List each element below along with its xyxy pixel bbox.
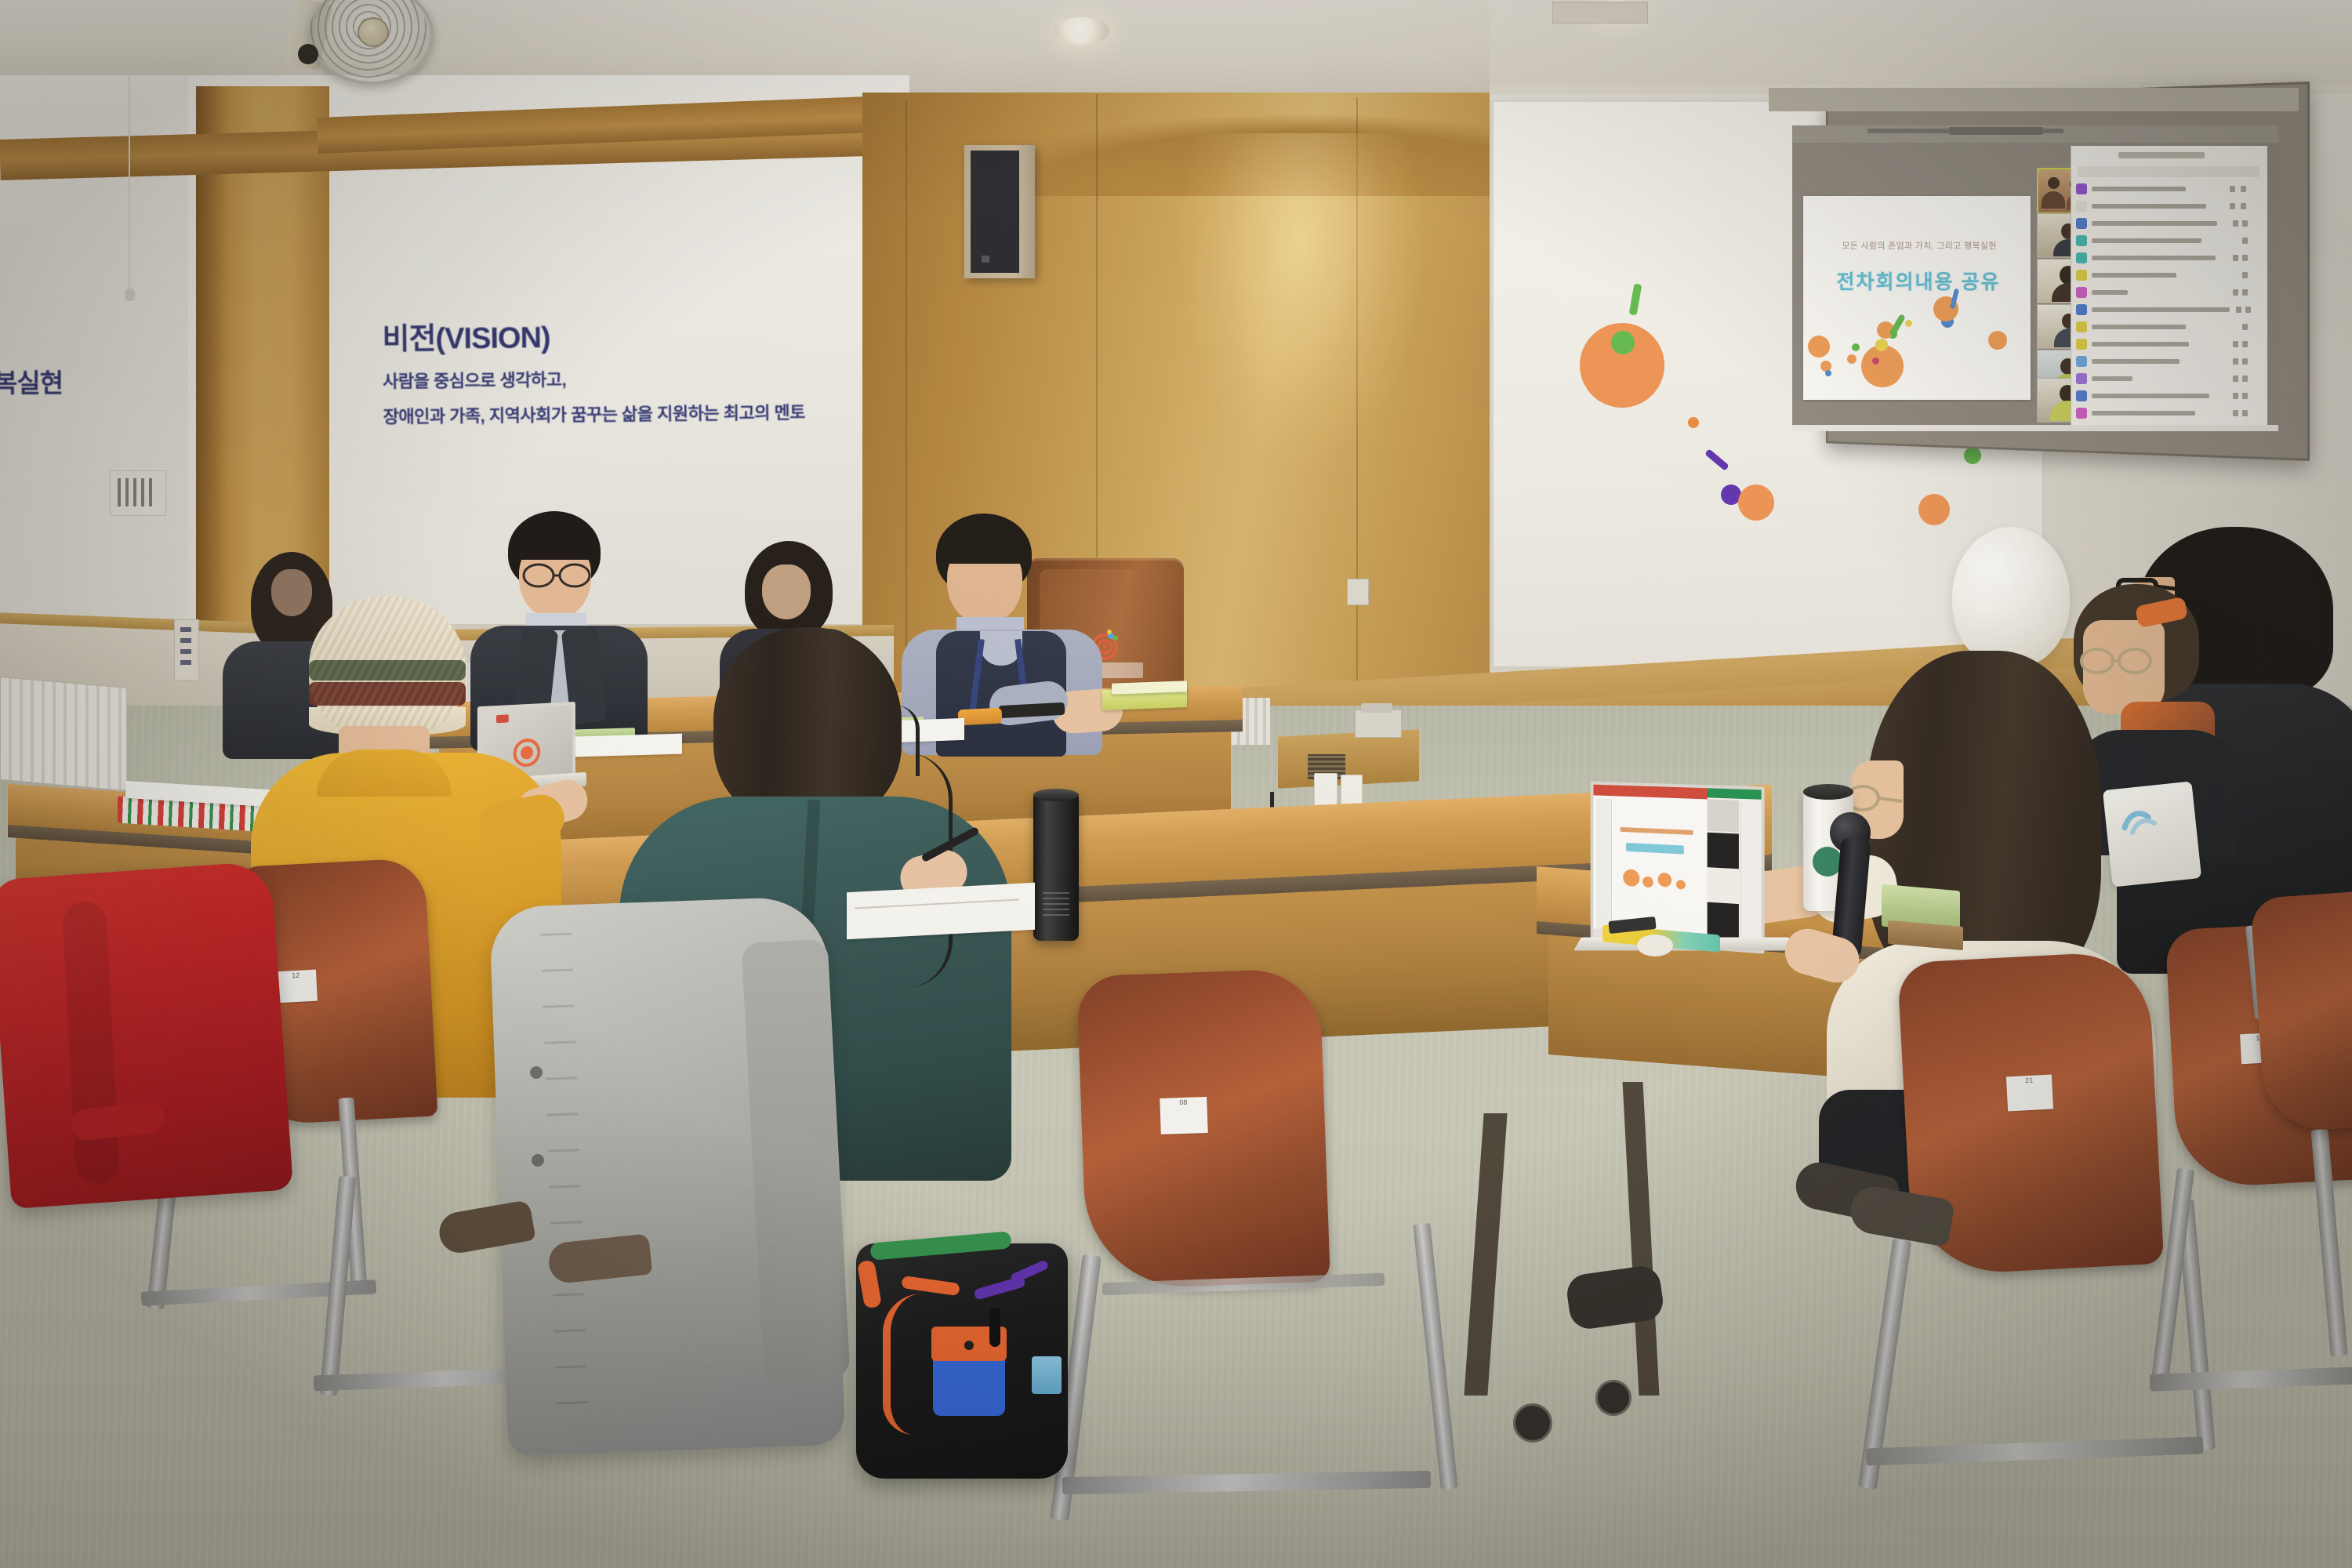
door-plate-text [180, 627, 191, 668]
slide-dot-blue [1825, 370, 1831, 376]
video-call-toolbar[interactable] [1792, 425, 2278, 431]
banner-dot-small [1688, 417, 1699, 428]
participant-list-panel[interactable] [2071, 146, 2267, 425]
slide-dot [1623, 869, 1639, 887]
jacket-snap-button [530, 1066, 543, 1079]
vision-line-1: 사람을 중심으로 생각하고, [383, 363, 884, 394]
backpack-zipper-orange[interactable] [883, 1294, 936, 1435]
participant-panel-thumb [1740, 802, 1761, 941]
slide-dot [1988, 331, 2007, 350]
wall-fan [290, 0, 439, 86]
eyeglasses-icon [519, 563, 594, 590]
radiator-left [0, 677, 127, 791]
wall-socket[interactable] [1347, 579, 1369, 605]
fan-pull-cord-bead[interactable] [125, 289, 135, 301]
slide-dot-large [1861, 345, 1904, 387]
jacket-snap-button [532, 1154, 544, 1167]
vision-heading: 비전(VISION) [382, 310, 884, 358]
video-tile-thumb [1708, 869, 1739, 902]
thermos-lid[interactable] [1033, 789, 1079, 801]
video-call-status-bar [1708, 788, 1762, 799]
projected-video-call-window: 모든 사람의 존엄과 가치, 그리고 행복실현 전차회의내용 공유 [1792, 125, 2278, 431]
slide-dot [1808, 336, 1830, 358]
participant-row[interactable] [2076, 216, 2263, 231]
participant-row[interactable] [2076, 406, 2263, 421]
backpack-strap [989, 1308, 1000, 1347]
slide-dot [1642, 877, 1653, 888]
chair-number-tag: 08 [1160, 1097, 1208, 1134]
participant-row[interactable] [2076, 199, 2263, 214]
participant-row[interactable] [2076, 354, 2263, 369]
projected-window-title-badge [1949, 127, 2043, 135]
participant-row[interactable] [2076, 234, 2263, 249]
slide-subtitle: 모든 사람의 존엄과 가치, 그리고 행복실현 [1822, 239, 2016, 252]
banner-stick-green [1629, 283, 1642, 315]
thermos-label [1043, 892, 1069, 917]
hair-fringe [517, 538, 593, 560]
notepad-open[interactable] [847, 883, 1035, 940]
conference-room-photo: 복실현 비전(VISION) 사람을 중심으로 생각하고, 장애인과 가족, 지… [0, 0, 2352, 1568]
hair-fringe [946, 539, 1025, 564]
participant-row[interactable] [2076, 303, 2263, 318]
vision-line-2: 장애인과 가족, 지역사회가 꿈꾸는 삶을 지원하는 최고의 멘토 [383, 398, 884, 429]
ceiling-light [1054, 17, 1109, 45]
projector-mount-bracket [1361, 703, 1392, 713]
speaker-badge [982, 256, 989, 263]
participant-list-header [2118, 152, 2205, 158]
participant-row[interactable] [2076, 268, 2263, 283]
banner-dot-green-small [1611, 331, 1635, 354]
chair-number-tag: 21 [2006, 1075, 2053, 1112]
beanie-knit-texture [309, 596, 466, 737]
chair-tag-text: 08 [1160, 1097, 1207, 1108]
mouse[interactable] [1637, 935, 1673, 956]
slide-dot-yellow [1905, 320, 1912, 327]
banner-stick-purple [1704, 448, 1730, 471]
left-wall-sign-partial: 복실현 [0, 362, 63, 400]
video-tile-thumb [1708, 799, 1739, 832]
projection-screen-header [1769, 88, 2299, 111]
participant-row[interactable] [2076, 372, 2263, 387]
projector-ceiling-mount [1355, 710, 1402, 738]
slide-dot [1658, 873, 1672, 887]
backpack-side-label [1032, 1356, 1062, 1394]
speaker-grille [971, 151, 1019, 273]
fan-hub [358, 17, 389, 47]
slide-dot-yellow [1875, 339, 1888, 351]
table-caster-wheel [1595, 1380, 1632, 1416]
white-balloon [1952, 527, 2070, 668]
banner-dot-orange [1738, 485, 1774, 521]
hair-highlight [713, 627, 902, 823]
table-caster-wheel [1513, 1403, 1552, 1443]
wall-light-glow [1137, 133, 1466, 682]
banner-dot-orange [1918, 494, 1950, 525]
participant-row[interactable] [2076, 389, 2263, 404]
video-tile-thumb [1708, 833, 1739, 869]
participant-row[interactable] [2076, 251, 2263, 266]
banner-dot-green [1964, 447, 1981, 464]
slide-dot [1676, 880, 1686, 890]
slide-dot [1847, 354, 1857, 364]
slide-title: 전차회의내용 공유 [1817, 267, 2020, 295]
backpack-snap [964, 1341, 974, 1350]
tumbler-lid[interactable] [1803, 784, 1853, 800]
participant-row[interactable] [2076, 182, 2263, 197]
wall-louver-slats [118, 478, 157, 506]
participant-row[interactable] [2076, 337, 2263, 352]
participant-row[interactable] [2076, 285, 2263, 300]
black-thermos[interactable] [1033, 792, 1079, 941]
shared-slide: 모든 사람의 존엄과 가치, 그리고 행복실현 전차회의내용 공유 [1803, 196, 2031, 400]
participant-row[interactable] [2076, 320, 2263, 335]
fan-knob [298, 44, 318, 64]
vision-statement-sign: 비전(VISION) 사람을 중심으로 생각하고, 장애인과 가족, 지역사회가… [382, 310, 884, 429]
fan-pull-cord[interactable] [129, 47, 130, 290]
participant-search-input[interactable] [2078, 166, 2259, 177]
headset-cable-upper [881, 706, 920, 776]
chair-tag-text: 21 [2006, 1075, 2053, 1087]
slide-thumbnail-pane [1596, 798, 1612, 930]
slide-dot-pink [1872, 358, 1879, 365]
ceiling-vent [1552, 2, 1648, 24]
slide-dot-green [1852, 343, 1860, 351]
